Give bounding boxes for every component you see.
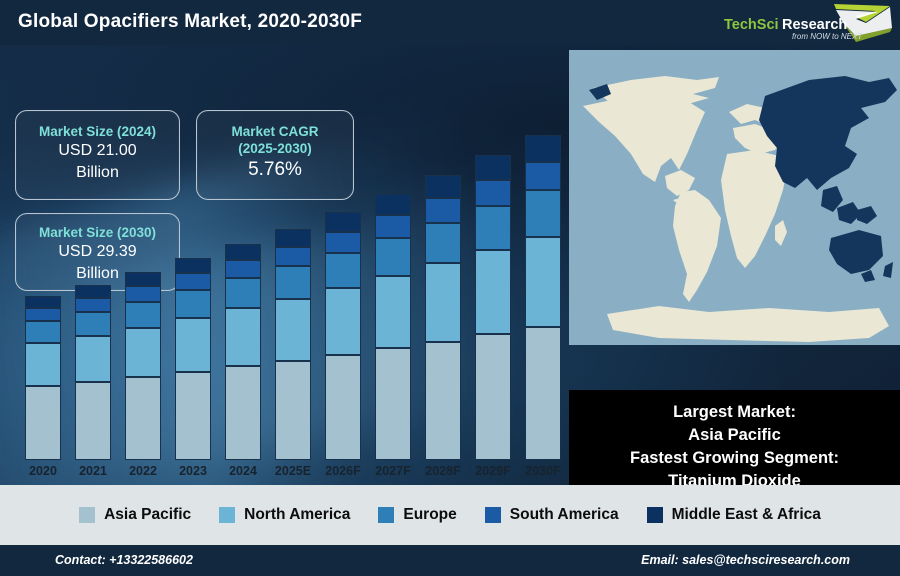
legend-label: Asia Pacific bbox=[104, 506, 191, 524]
svg-text:Research: Research bbox=[782, 17, 847, 33]
bar-2023 bbox=[175, 258, 211, 460]
footer-email: Email: sales@techsciresearch.com bbox=[641, 553, 850, 567]
bar-2024 bbox=[225, 244, 261, 460]
legend-item-south-america[interactable]: South America bbox=[485, 506, 619, 524]
bar-2020 bbox=[25, 296, 61, 460]
main-stage: Market Size (2024) USD 21.00 Billion Mar… bbox=[0, 45, 900, 485]
svg-text:from NOW to NEXT: from NOW to NEXT bbox=[792, 32, 863, 41]
bar-segment bbox=[425, 342, 461, 460]
bar-segment bbox=[75, 285, 111, 298]
bar-segment bbox=[525, 190, 561, 237]
legend-item-north-america[interactable]: North America bbox=[219, 506, 350, 524]
largest-market-label: Largest Market: bbox=[569, 401, 900, 424]
bar-segment bbox=[475, 180, 511, 207]
legend-item-asia-pacific[interactable]: Asia Pacific bbox=[79, 506, 191, 524]
bar-segment bbox=[375, 348, 411, 460]
bar-2025E bbox=[275, 229, 311, 460]
stacked-bar-chart bbox=[0, 45, 565, 460]
x-axis-label-2020: 2020 bbox=[18, 464, 68, 478]
legend-swatch-icon bbox=[485, 507, 501, 523]
footer-bar: Contact: +13322586602 Email: sales@techs… bbox=[0, 545, 900, 576]
bar-segment bbox=[25, 308, 61, 321]
bar-segment bbox=[275, 247, 311, 266]
legend-swatch-icon bbox=[79, 507, 95, 523]
bar-segment bbox=[175, 273, 211, 290]
bar-segment bbox=[275, 361, 311, 460]
world-map bbox=[569, 50, 900, 345]
bar-2022 bbox=[125, 272, 161, 460]
bar-segment bbox=[25, 321, 61, 343]
bar-segment bbox=[425, 223, 461, 263]
bar-segment bbox=[225, 278, 261, 308]
x-axis-label-2022: 2022 bbox=[118, 464, 168, 478]
bar-segment bbox=[325, 253, 361, 288]
infographic-root: Global Opacifiers Market, 2020-2030F Tec… bbox=[0, 0, 900, 576]
bar-segment bbox=[375, 215, 411, 238]
legend-label: Europe bbox=[403, 506, 456, 524]
fastest-segment-value: Titanium Dioxide bbox=[569, 470, 900, 486]
x-axis-label-2027F: 2027F bbox=[368, 464, 418, 478]
legend-label: Middle East & Africa bbox=[672, 506, 821, 524]
x-axis-label-2023: 2023 bbox=[168, 464, 218, 478]
bar-segment bbox=[175, 372, 211, 460]
bar-2027F bbox=[375, 194, 411, 460]
x-axis-label-2025E: 2025E bbox=[268, 464, 318, 478]
bar-segment bbox=[525, 162, 561, 190]
legend-item-europe[interactable]: Europe bbox=[378, 506, 456, 524]
bar-segment bbox=[25, 343, 61, 386]
bar-segment bbox=[275, 229, 311, 247]
svg-text:TechSci: TechSci bbox=[724, 17, 779, 33]
bar-segment bbox=[125, 328, 161, 378]
bar-2030F bbox=[525, 135, 561, 460]
bar-segment bbox=[325, 212, 361, 231]
x-axis-label-2029F: 2029F bbox=[468, 464, 518, 478]
bar-segment bbox=[125, 286, 161, 302]
market-highlights-box: Largest Market: Asia Pacific Fastest Gro… bbox=[569, 390, 900, 485]
bar-segment bbox=[75, 336, 111, 382]
bar-segment bbox=[375, 238, 411, 275]
chart-x-axis: 202020212022202320242025E2026F2027F2028F… bbox=[0, 460, 565, 485]
footer-contact: Contact: +13322586602 bbox=[55, 553, 193, 567]
bar-segment bbox=[275, 266, 311, 299]
bar-segment bbox=[175, 258, 211, 273]
bar-segment bbox=[525, 327, 561, 460]
bar-segment bbox=[425, 175, 461, 198]
x-axis-label-2028F: 2028F bbox=[418, 464, 468, 478]
bar-segment bbox=[75, 312, 111, 336]
bar-segment bbox=[325, 288, 361, 355]
bar-segment bbox=[475, 334, 511, 460]
largest-market-value: Asia Pacific bbox=[569, 424, 900, 447]
bar-2029F bbox=[475, 155, 511, 460]
bar-segment bbox=[25, 386, 61, 460]
bar-segment bbox=[525, 237, 561, 328]
chart-legend: Asia PacificNorth AmericaEuropeSouth Ame… bbox=[0, 485, 900, 545]
legend-label: North America bbox=[244, 506, 350, 524]
bar-segment bbox=[125, 377, 161, 460]
bar-segment bbox=[125, 302, 161, 328]
x-axis-label-2030F: 2030F bbox=[518, 464, 568, 478]
bar-segment bbox=[475, 206, 511, 249]
bar-segment bbox=[225, 260, 261, 278]
bar-segment bbox=[75, 382, 111, 460]
bar-2028F bbox=[425, 175, 461, 460]
bar-segment bbox=[175, 290, 211, 318]
bar-segment bbox=[175, 318, 211, 372]
legend-swatch-icon bbox=[647, 507, 663, 523]
bar-segment bbox=[375, 194, 411, 215]
bar-2021 bbox=[75, 285, 111, 460]
bar-segment bbox=[475, 155, 511, 180]
bar-segment bbox=[25, 296, 61, 307]
legend-swatch-icon bbox=[219, 507, 235, 523]
x-axis-label-2026F: 2026F bbox=[318, 464, 368, 478]
techsci-research-logo: TechSci Research from NOW to NEXT bbox=[716, 2, 894, 44]
bar-segment bbox=[325, 355, 361, 460]
bar-segment bbox=[225, 244, 261, 260]
fastest-segment-label: Fastest Growing Segment: bbox=[569, 447, 900, 470]
legend-swatch-icon bbox=[378, 507, 394, 523]
bar-segment bbox=[275, 299, 311, 361]
bar-segment bbox=[225, 366, 261, 460]
bar-segment bbox=[75, 298, 111, 312]
legend-label: South America bbox=[510, 506, 619, 524]
bar-2026F bbox=[325, 212, 361, 460]
bar-segment bbox=[325, 232, 361, 253]
bar-segment bbox=[425, 198, 461, 223]
legend-item-middle-east-africa[interactable]: Middle East & Africa bbox=[647, 506, 821, 524]
bar-segment bbox=[525, 135, 561, 162]
x-axis-label-2024: 2024 bbox=[218, 464, 268, 478]
page-title: Global Opacifiers Market, 2020-2030F bbox=[18, 11, 362, 33]
bar-segment bbox=[375, 276, 411, 348]
bar-segment bbox=[475, 250, 511, 335]
x-axis-label-2021: 2021 bbox=[68, 464, 118, 478]
bar-segment bbox=[425, 263, 461, 342]
bar-segment bbox=[125, 272, 161, 286]
bar-segment bbox=[225, 308, 261, 366]
header-bar: Global Opacifiers Market, 2020-2030F Tec… bbox=[0, 0, 900, 45]
